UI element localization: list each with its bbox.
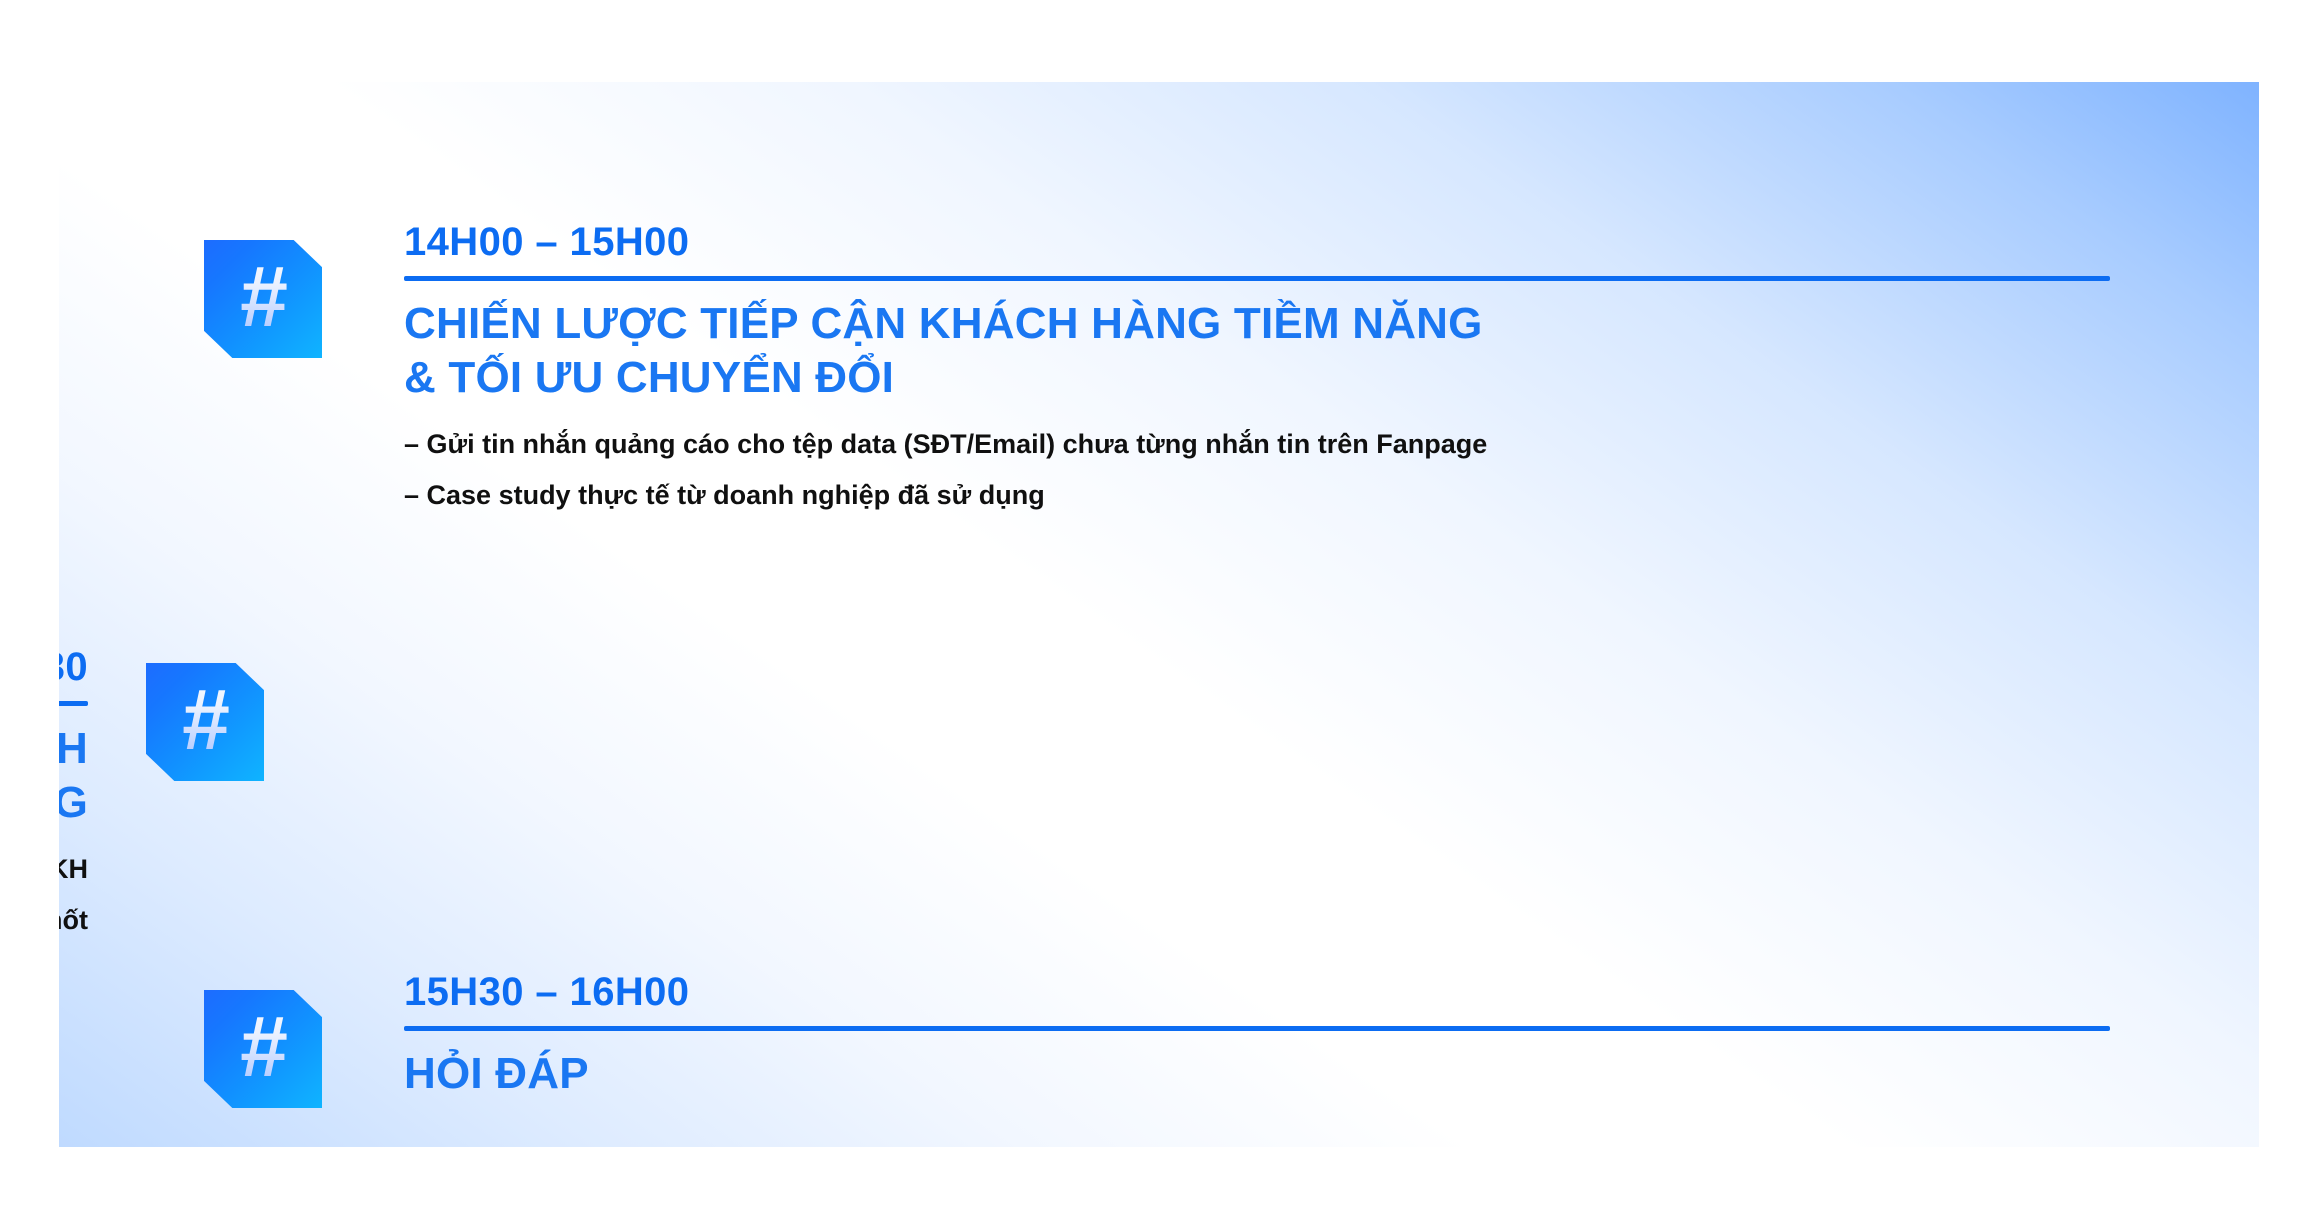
session-title-line-1: HỎI ĐÁP <box>404 1047 2110 1101</box>
agenda-slide: # 14H00 – 15H00 CHIẾN LƯỢC TIẾP CẬN KHÁC… <box>59 82 2259 1147</box>
agenda-section-1-body: 14H00 – 15H00 CHIẾN LƯỢC TIẾP CẬN KHÁCH … <box>404 222 2110 529</box>
session-time: 14H00 – 15H00 <box>404 222 2110 262</box>
divider-rule <box>404 276 2110 281</box>
hash-icon-glyph: # <box>204 240 322 358</box>
session-title: CHIẾN LƯỢC TIẾP CẬN KHÁCH HÀNG TIỀM NĂNG… <box>404 297 2110 404</box>
session-time: 15H00 – 15H30 <box>59 647 88 687</box>
divider-rule <box>59 701 88 706</box>
session-title-line-2: & HỆ THỐNG CHĂM SÓC KHÁCH HÀNG TỰ ĐỘNG <box>59 776 88 830</box>
session-title: CÔNG CỤ QUẢN LÝ CHAT THÔNG MINH & HỆ THỐ… <box>59 722 88 829</box>
session-title: HỎI ĐÁP <box>404 1047 2110 1101</box>
hash-icon-glyph: # <box>204 990 322 1108</box>
session-bullet-list: – Gửi tin nhắn quảng cáo cho tệp data (S… <box>404 428 2110 511</box>
hash-icon: # <box>204 990 322 1108</box>
session-time: 15H30 – 16H00 <box>404 972 2110 1012</box>
session-title-line-1: CHIẾN LƯỢC TIẾP CẬN KHÁCH HÀNG TIỀM NĂNG <box>404 297 2110 351</box>
session-bullet-list: – Tips tăng tốc độ phản hồi & hiệu suất … <box>59 853 88 936</box>
divider-rule <box>404 1026 2110 1031</box>
session-title-line-2: & TỐI ƯU CHUYỂN ĐỔI <box>404 351 2110 405</box>
agenda-section-2-body: 15H00 – 15H30 CÔNG CỤ QUẢN LÝ CHAT THÔNG… <box>59 647 88 954</box>
list-item: – Tips tăng tốc độ phản hồi & hiệu suất … <box>59 853 88 885</box>
list-item: – Case study thực tế từ doanh nghiệp đã … <box>404 479 2110 511</box>
hash-icon: # <box>204 240 322 358</box>
hash-icon: # <box>146 663 264 781</box>
list-item: – Xây dựng quy trình chăm sóc khách hàng… <box>59 904 88 936</box>
hash-icon-glyph: # <box>146 663 264 781</box>
list-item: – Gửi tin nhắn quảng cáo cho tệp data (S… <box>404 428 2110 460</box>
session-title-line-1: CÔNG CỤ QUẢN LÝ CHAT THÔNG MINH <box>59 722 88 776</box>
agenda-section-3-body: 15H30 – 16H00 HỎI ĐÁP <box>404 972 2110 1101</box>
